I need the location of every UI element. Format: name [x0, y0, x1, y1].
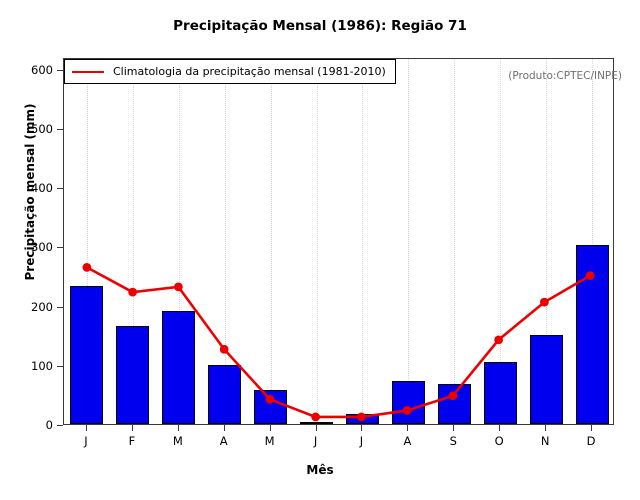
climatology-marker-S — [448, 391, 457, 400]
x-tick-mark — [591, 425, 592, 431]
x-tick-label-J-6: J — [341, 434, 381, 448]
y-tick-label: 100 — [8, 359, 53, 373]
y-tick-mark — [57, 425, 63, 426]
climatology-marker-A — [220, 345, 229, 354]
x-tick-mark — [86, 425, 87, 431]
y-tick-label: 200 — [8, 300, 53, 314]
y-tick-label: 600 — [8, 63, 53, 77]
chart-title: Precipitação Mensal (1986): Região 71 — [0, 18, 640, 34]
legend: Climatologia da precipitação mensal (198… — [64, 59, 396, 84]
x-tick-mark — [132, 425, 133, 431]
x-tick-label-S-8: S — [433, 434, 473, 448]
y-tick-label: 500 — [8, 122, 53, 136]
climatology-line — [87, 267, 590, 417]
climatology-marker-N — [540, 298, 549, 307]
climatology-marker-M — [174, 282, 183, 291]
x-tick-mark — [499, 425, 500, 431]
y-tick-label: 0 — [8, 418, 53, 432]
climatology-marker-D — [586, 271, 595, 280]
x-tick-label-F-1: F — [112, 434, 152, 448]
climatology-marker-J — [82, 263, 91, 272]
y-tick-mark — [57, 70, 63, 71]
x-tick-mark — [545, 425, 546, 431]
x-tick-mark — [361, 425, 362, 431]
x-tick-mark — [270, 425, 271, 431]
x-axis-label: Mês — [0, 463, 640, 477]
climatology-marker-J — [357, 413, 366, 422]
x-tick-label-D-11: D — [571, 434, 611, 448]
x-tick-mark — [407, 425, 408, 431]
climatology-marker-O — [494, 335, 503, 344]
x-tick-label-J-5: J — [296, 434, 336, 448]
y-tick-mark — [57, 129, 63, 130]
y-tick-mark — [57, 307, 63, 308]
legend-label: Climatologia da precipitação mensal (198… — [113, 65, 386, 78]
x-tick-label-A-7: A — [387, 434, 427, 448]
x-tick-mark — [178, 425, 179, 431]
legend-line-swatch — [72, 71, 104, 73]
x-tick-mark — [453, 425, 454, 431]
x-tick-label-A-3: A — [204, 434, 244, 448]
y-tick-label: 300 — [8, 240, 53, 254]
climatology-marker-A — [403, 406, 412, 415]
climatology-line-series — [64, 59, 613, 424]
precipitation-chart-figure: Precipitação Mensal (1986): Região 71 Pr… — [0, 0, 640, 500]
x-tick-label-J-0: J — [66, 434, 106, 448]
x-tick-label-N-10: N — [525, 434, 565, 448]
plot-area — [63, 58, 614, 425]
x-tick-mark — [316, 425, 317, 431]
y-tick-mark — [57, 366, 63, 367]
climatology-marker-M — [265, 395, 274, 404]
producer-annotation: (Produto:CPTEC/INPE) — [508, 70, 622, 82]
x-tick-label-M-4: M — [250, 434, 290, 448]
climatology-marker-F — [128, 288, 137, 297]
x-tick-label-M-2: M — [158, 434, 198, 448]
climatology-marker-J — [311, 413, 320, 422]
y-tick-mark — [57, 188, 63, 189]
y-tick-label: 400 — [8, 181, 53, 195]
y-tick-mark — [57, 247, 63, 248]
x-tick-mark — [224, 425, 225, 431]
x-tick-label-O-9: O — [479, 434, 519, 448]
